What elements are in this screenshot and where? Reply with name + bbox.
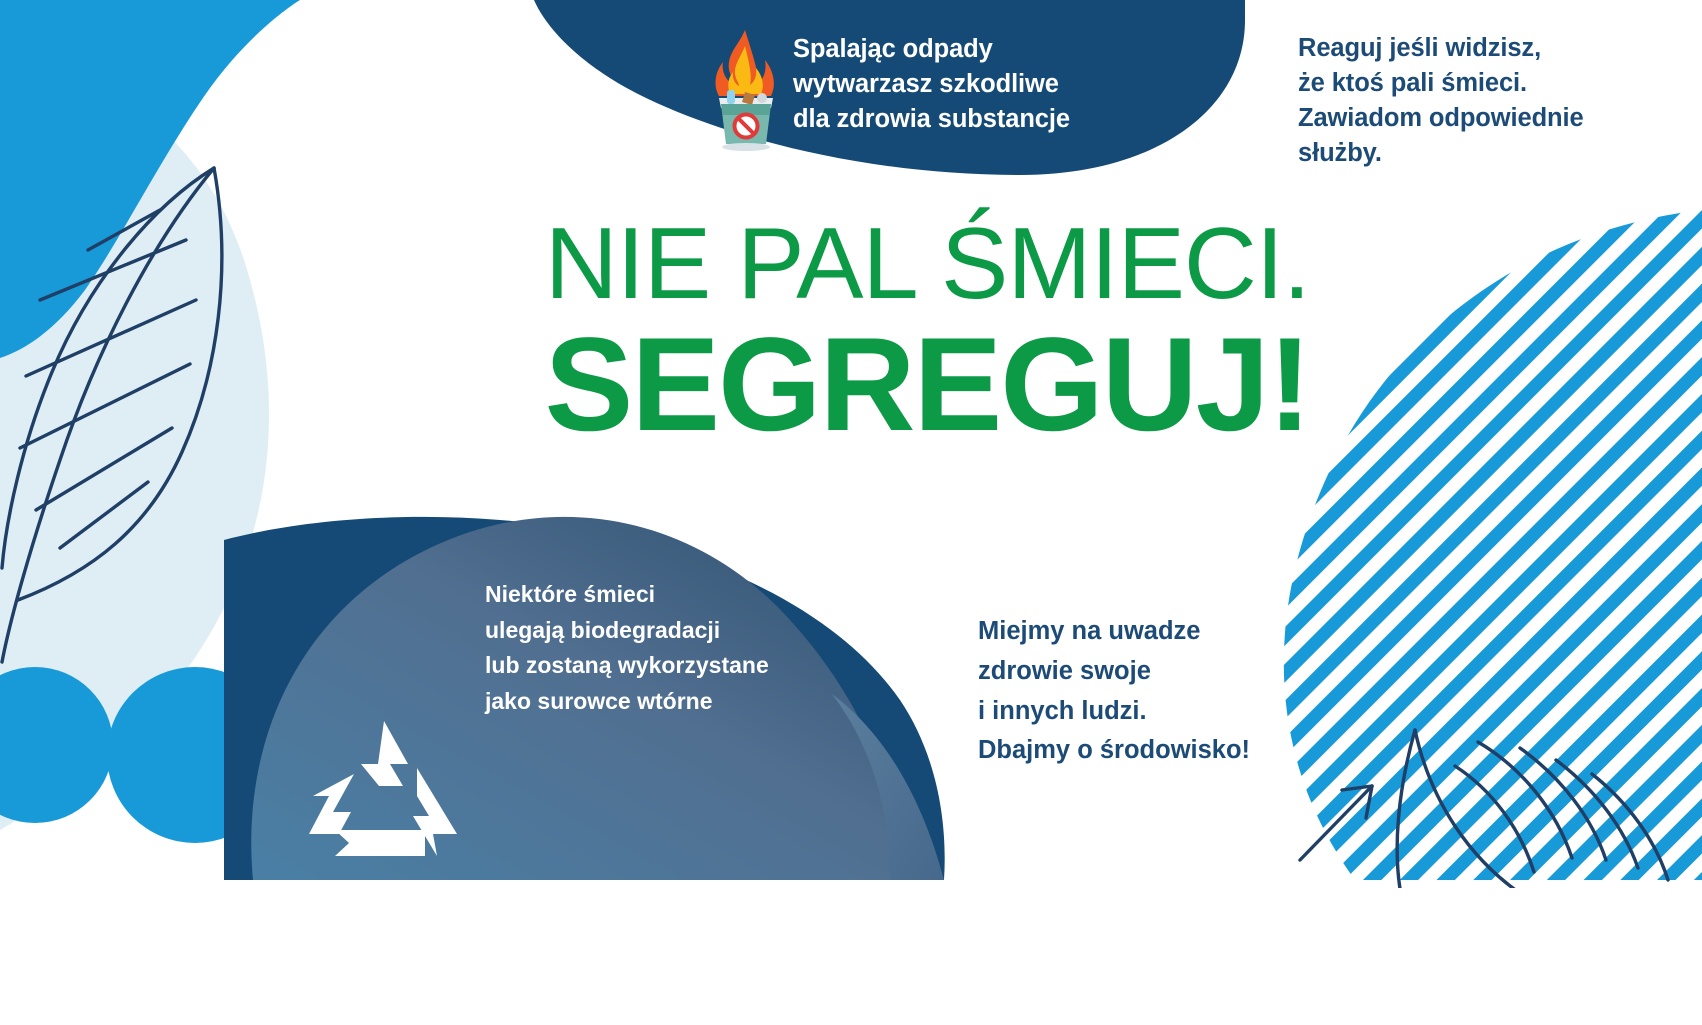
callout-care-line4: Dbajmy o środowisko! bbox=[978, 731, 1318, 771]
callout-care-line3: i innych ludzi. bbox=[978, 692, 1318, 732]
callout-care-line2: zdrowie swoje bbox=[978, 652, 1318, 692]
callout-bio-line3: lub zostaną wykorzystane bbox=[485, 648, 815, 684]
callout-react-line2: że ktoś pali śmieci. bbox=[1298, 66, 1628, 101]
footer-bar: zielona gmina Dofinansowano ze środków W… bbox=[0, 888, 1702, 1025]
headline-line1: NIE PAL ŚMIECI. bbox=[0, 215, 1310, 314]
callout-burning-line1: Spalając odpady bbox=[793, 32, 1123, 67]
callout-burning-line2: wytwarzasz szkodliwe bbox=[793, 67, 1123, 102]
callout-burning-text: Spalając odpady wytwarzasz szkodliwe dla… bbox=[793, 32, 1123, 137]
recycling-symbol-icon bbox=[305, 718, 465, 868]
callout-react-line3: Zawiadom odpowiednie bbox=[1298, 101, 1628, 136]
headline-line2: SEGREGUJ! bbox=[0, 320, 1310, 450]
callout-burning-line3: dla zdrowia substancje bbox=[793, 102, 1123, 137]
callout-react-line4: służby. bbox=[1298, 136, 1628, 171]
burning-trash-bin-icon bbox=[705, 28, 785, 153]
page-title: NIE PAL ŚMIECI. SEGREGUJ! bbox=[0, 215, 1310, 450]
poster-canvas: Spalając odpady wytwarzasz szkodliwe dla… bbox=[0, 0, 1702, 1025]
callout-biodegradation-text: Niektóre śmieci ulegają biodegradacji lu… bbox=[485, 577, 815, 720]
callout-bio-line2: ulegają biodegradacji bbox=[485, 613, 815, 649]
callout-care-text: Miejmy na uwadze zdrowie swoje i innych … bbox=[978, 612, 1318, 771]
callout-bio-line4: jako surowce wtórne bbox=[485, 684, 815, 720]
callout-react-text: Reaguj jeśli widzisz, że ktoś pali śmiec… bbox=[1298, 31, 1628, 171]
callout-care-line1: Miejmy na uwadze bbox=[978, 612, 1318, 652]
callout-bio-line1: Niektóre śmieci bbox=[485, 577, 815, 613]
callout-react-line1: Reaguj jeśli widzisz, bbox=[1298, 31, 1628, 66]
